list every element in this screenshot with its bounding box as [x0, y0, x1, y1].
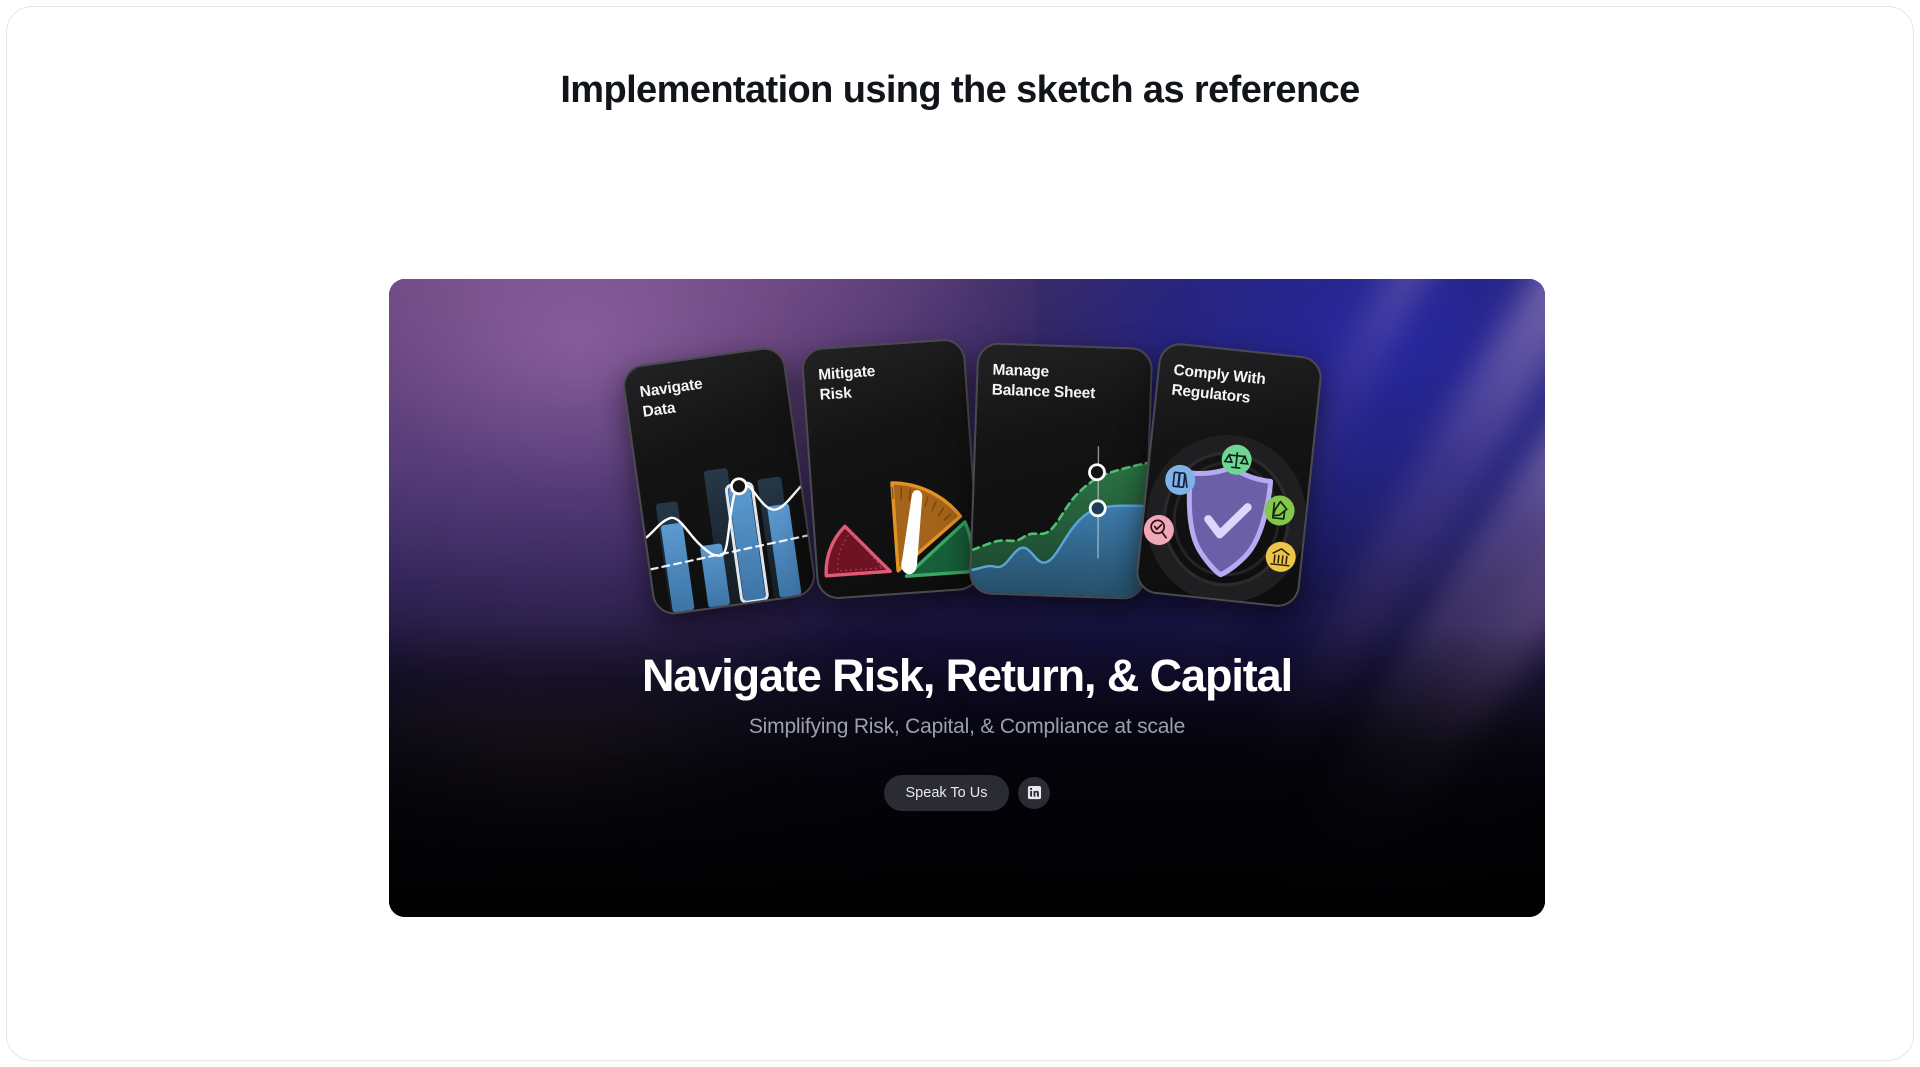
- feature-card-title: Comply WithRegulators: [1171, 361, 1310, 415]
- feature-card-title: ManageBalance Sheet: [991, 361, 1140, 406]
- page-title: Implementation using the sketch as refer…: [7, 69, 1913, 112]
- feature-card-manage-balance-sheet[interactable]: ManageBalance Sheet: [969, 342, 1154, 600]
- feature-card-mitigate-risk[interactable]: MitigateRisk: [800, 338, 981, 601]
- hero-banner: NavigateData: [389, 279, 1545, 917]
- page-frame: Implementation using the sketch as refer…: [6, 6, 1914, 1061]
- linkedin-icon: [1027, 785, 1042, 800]
- risk-gauge-art: [809, 437, 979, 598]
- compliance-shield-art: [1136, 415, 1314, 607]
- feature-card-title: MitigateRisk: [818, 356, 956, 405]
- speak-to-us-button[interactable]: Speak To Us: [884, 775, 1010, 811]
- bar-chart-art: [636, 444, 815, 615]
- feature-card-navigate-data[interactable]: NavigateData: [620, 345, 817, 617]
- hero-copy: Navigate Risk, Return, & Capital Simplif…: [389, 651, 1545, 811]
- feature-card-comply-with-regulators[interactable]: Comply WithRegulators: [1134, 341, 1323, 609]
- hero-headline: Navigate Risk, Return, & Capital: [389, 651, 1545, 701]
- feature-card-fan: NavigateData: [389, 323, 1545, 623]
- feature-card-title: NavigateData: [639, 364, 779, 422]
- hero-actions: Speak To Us: [389, 775, 1545, 811]
- hero-subtitle: Simplifying Risk, Capital, & Compliance …: [389, 715, 1545, 739]
- area-chart-art: [971, 442, 1148, 598]
- linkedin-button[interactable]: [1018, 777, 1050, 809]
